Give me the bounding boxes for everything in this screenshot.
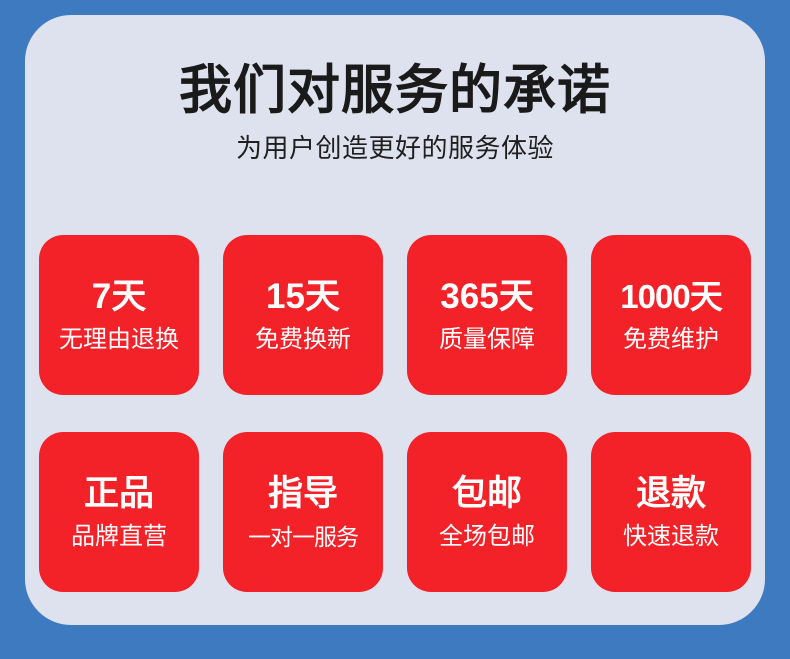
promise-card-main-label: 7天 [92, 277, 146, 317]
promise-card-sub-label: 质量保障 [439, 326, 535, 354]
promise-card-15-day-exchange[interactable]: 15天 免费换新 [223, 235, 383, 395]
promise-card-main-label: 365天 [440, 277, 533, 317]
promise-card-row-2: 正品 品牌直营 指导 一对一服务 包邮 全场包邮 退款 快速退款 [39, 432, 751, 592]
promise-card-main-label: 1000天 [620, 277, 721, 317]
promise-card-sub-label: 品牌直营 [71, 523, 167, 551]
promise-card-sub-label: 无理由退换 [59, 326, 179, 354]
content-panel: 我们对服务的承诺 为用户创造更好的服务体验 7天 无理由退换 15天 免费换新 … [25, 15, 765, 625]
promise-card-main-label: 指导 [268, 474, 338, 514]
page-subtitle: 为用户创造更好的服务体验 [25, 120, 765, 163]
promise-card-main-label: 15天 [266, 277, 340, 317]
promise-card-365-day-quality[interactable]: 365天 质量保障 [407, 235, 567, 395]
promise-card-free-shipping[interactable]: 包邮 全场包邮 [407, 432, 567, 592]
header: 我们对服务的承诺 为用户创造更好的服务体验 [25, 15, 765, 163]
promise-card-1000-day-maintenance[interactable]: 1000天 免费维护 [591, 235, 751, 395]
promise-card-main-label: 正品 [84, 474, 154, 514]
promise-card-guidance[interactable]: 指导 一对一服务 [223, 432, 383, 592]
promise-cards-area: 7天 无理由退换 15天 免费换新 365天 质量保障 1000天 免费维护 [39, 235, 751, 592]
promise-card-sub-label: 免费换新 [255, 326, 351, 354]
promo-banner: 我们对服务的承诺 为用户创造更好的服务体验 7天 无理由退换 15天 免费换新 … [0, 0, 790, 659]
page-title: 我们对服务的承诺 [25, 15, 765, 120]
promise-card-sub-label: 全场包邮 [439, 523, 535, 551]
promise-card-authentic[interactable]: 正品 品牌直营 [39, 432, 199, 592]
promise-card-sub-label: 快速退款 [623, 523, 719, 551]
promise-card-refund[interactable]: 退款 快速退款 [591, 432, 751, 592]
promise-card-7-day-return[interactable]: 7天 无理由退换 [39, 235, 199, 395]
promise-card-sub-label: 一对一服务 [248, 523, 358, 551]
promise-card-main-label: 退款 [636, 474, 706, 514]
promise-card-main-label: 包邮 [452, 474, 522, 514]
promise-card-row-1: 7天 无理由退换 15天 免费换新 365天 质量保障 1000天 免费维护 [39, 235, 751, 395]
promise-card-sub-label: 免费维护 [623, 326, 719, 354]
